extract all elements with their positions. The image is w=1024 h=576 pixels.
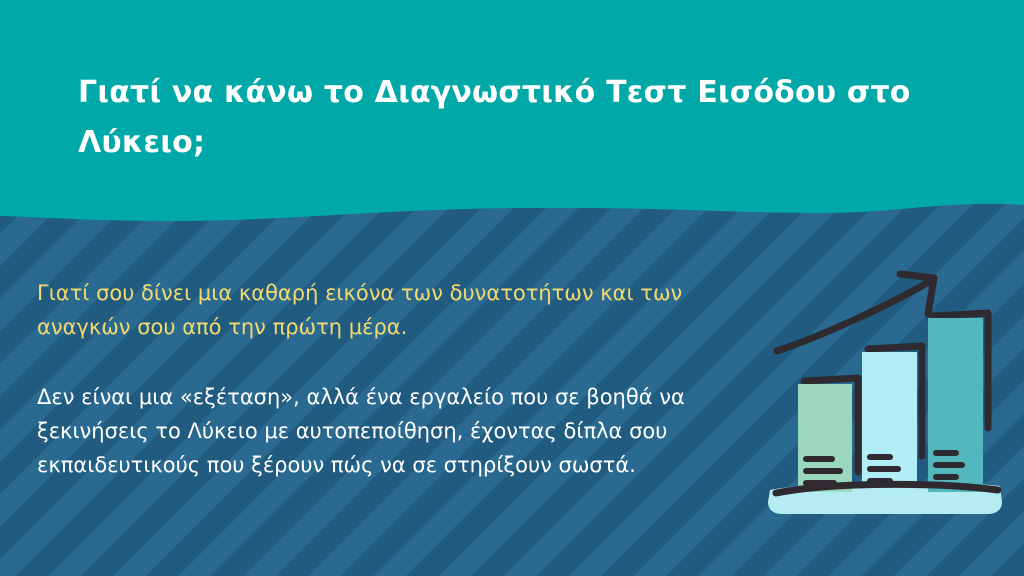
slide-root: Γιατί να κάνω το Διαγνωστικό Τεστ Εισόδο… [0,0,1024,576]
page-title: Γιατί να κάνω το Διαγνωστικό Τεστ Εισόδο… [78,68,938,168]
title-line-1: Γιατί να κάνω το Διαγνωστικό Τεστ Εισόδο… [78,68,938,118]
paragraph-explanation: Δεν είναι μια «εξέταση», αλλά ένα εργαλε… [37,380,762,482]
upward-trend-arrow-icon [777,274,934,351]
title-line-2: Λύκειο; [78,118,938,168]
paragraph-benefit: Γιατί σου δίνει μια καθαρή εικόνα των δυ… [37,276,762,344]
bar-1 [798,384,852,492]
growth-bar-chart-illustration [762,258,1020,520]
body-copy: Γιατί σου δίνει μια καθαρή εικόνα των δυ… [37,276,762,482]
